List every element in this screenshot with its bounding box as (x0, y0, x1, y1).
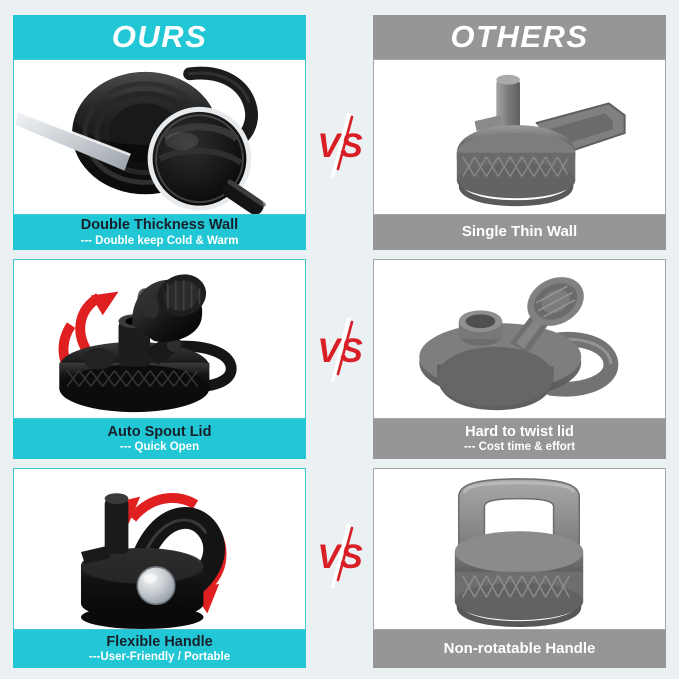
ours-product-image-row1 (13, 59, 306, 215)
others-product-image-row2 (373, 259, 666, 419)
others-column: OTHERS (373, 0, 666, 679)
ours-panel-row1: Double Thickness Wall --- Double keep Co… (13, 59, 306, 250)
others-column-header: OTHERS (373, 15, 666, 59)
ours-panel-row2: Auto Spout Lid --- Quick Open (13, 259, 306, 459)
gray-single-wall-straw-lid-icon (374, 60, 665, 214)
ours-product-image-row2 (13, 259, 306, 419)
others-panel-row2: Hard to twist lid --- Cost time & effort (373, 259, 666, 459)
black-flexible-strap-handle-lid-icon (14, 469, 305, 629)
ours-title-row2: Auto Spout Lid (108, 424, 212, 440)
others-product-image-row1 (373, 59, 666, 215)
ours-column-header: OURS (13, 15, 306, 59)
comparison-infographic: OURS (0, 0, 679, 679)
ours-column: OURS (13, 0, 306, 679)
ours-subtitle-row2: --- Quick Open (120, 441, 199, 454)
ours-caption-row1: Double Thickness Wall --- Double keep Co… (13, 215, 306, 250)
others-panel-row1: Single Thin Wall (373, 59, 666, 250)
ours-product-image-row3 (13, 468, 306, 630)
black-auto-spout-lid-open-icon (14, 260, 305, 418)
others-caption-row2: Hard to twist lid --- Cost time & effort (373, 419, 666, 459)
ours-panel-row3: Flexible Handle ---User-Friendly / Porta… (13, 468, 306, 668)
ours-caption-row3: Flexible Handle ---User-Friendly / Porta… (13, 630, 306, 668)
vs-badge-row2: VS (311, 318, 369, 382)
ours-subtitle-row3: ---User-Friendly / Portable (89, 651, 230, 664)
gray-twist-lid-icon (374, 260, 665, 418)
ours-title-row1: Double Thickness Wall (81, 217, 238, 233)
others-panel-row3: Non-rotatable Handle (373, 468, 666, 668)
others-subtitle-row2: --- Cost time & effort (464, 441, 575, 454)
vs-badge-row1: VS (311, 113, 369, 177)
ours-caption-row2: Auto Spout Lid --- Quick Open (13, 419, 306, 459)
others-title-row3: Non-rotatable Handle (444, 641, 596, 658)
vs-badge-row3: VS (311, 524, 369, 588)
ours-title-row3: Flexible Handle (106, 634, 212, 650)
others-title-row1: Single Thin Wall (462, 224, 577, 241)
others-caption-row3: Non-rotatable Handle (373, 630, 666, 668)
others-caption-row1: Single Thin Wall (373, 215, 666, 250)
gray-fixed-loop-handle-lid-icon (374, 469, 665, 629)
others-title-row2: Hard to twist lid (465, 424, 574, 440)
others-product-image-row3 (373, 468, 666, 630)
black-double-wall-lid-with-magnifier-icon (14, 60, 305, 214)
ours-subtitle-row1: --- Double keep Cold & Warm (80, 235, 238, 248)
